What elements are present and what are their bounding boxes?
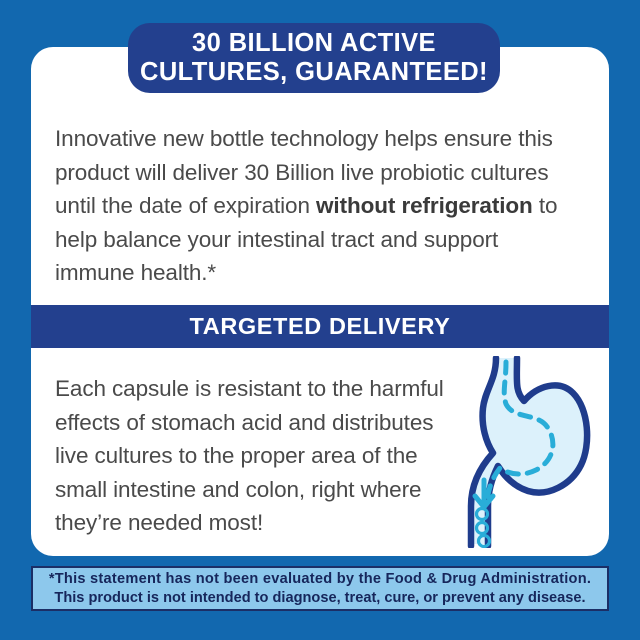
product-info-panel: 30 BILLION ACTIVE CULTURES, GUARANTEED! …	[0, 0, 640, 640]
targeted-delivery-title: TARGETED DELIVERY	[190, 313, 451, 340]
fda-disclaimer-box: *This statement has not been evaluated b…	[31, 566, 609, 611]
targeted-delivery-banner: TARGETED DELIVERY	[31, 305, 609, 348]
disclaimer-line-2: This product is not intended to diagnose…	[54, 589, 585, 608]
headline-line-2: CULTURES, GUARANTEED!	[140, 58, 488, 87]
targeted-delivery-paragraph: Each capsule is resistant to the harmful…	[55, 372, 455, 540]
bottle-technology-paragraph: Innovative new bottle technology helps e…	[55, 122, 583, 290]
paragraph1-emphasis: without refrigeration	[316, 193, 533, 218]
headline-badge: 30 BILLION ACTIVE CULTURES, GUARANTEED!	[128, 23, 500, 93]
disclaimer-line-1: *This statement has not been evaluated b…	[49, 570, 591, 589]
stomach-illustration	[462, 356, 594, 548]
headline-line-1: 30 BILLION ACTIVE	[192, 29, 436, 57]
headline-badge-text: 30 BILLION ACTIVE CULTURES, GUARANTEED!	[132, 29, 496, 86]
